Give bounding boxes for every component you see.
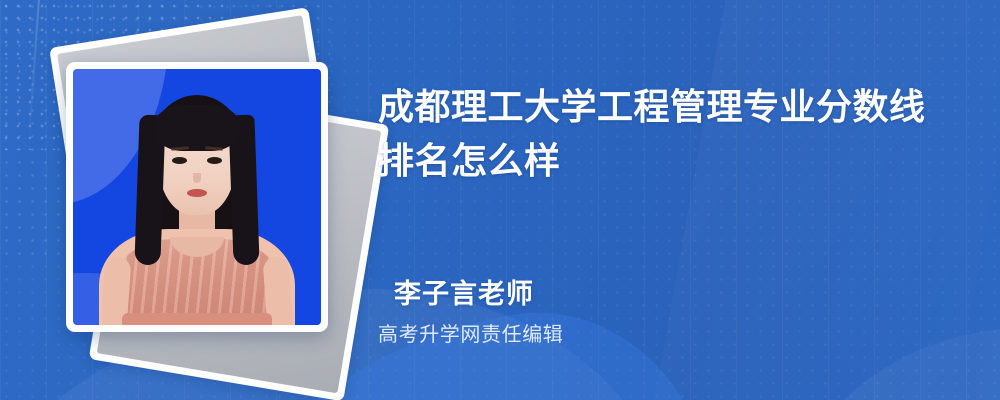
photo-card-stack [48,30,368,370]
portrait-eye-right [207,157,222,164]
portrait-mouth [187,189,207,197]
portrait-waistband [122,313,272,325]
portrait-fringe [153,105,241,151]
author-role: 高考升学网责任编辑 [378,318,563,347]
portrait-nose [193,173,201,183]
portrait-figure [92,89,302,325]
page-title-line-2: 排名怎么样 [378,140,561,181]
author-photo-card [66,62,328,332]
article-header-banner: 成都理工大学工程管理专业分数线排名怎么样 李子言老师 高考升学网责任编辑 [0,0,1000,400]
author-name: 李子言老师 [394,272,534,311]
author-photo [73,69,321,325]
banner-text-column: 成都理工大学工程管理专业分数线排名怎么样 李子言老师 高考升学网责任编辑 [378,0,978,400]
portrait-eye-left [172,157,187,164]
page-title-line-1: 成都理工大学工程管理专业分数线 [378,86,926,127]
page-title: 成都理工大学工程管理专业分数线排名怎么样 [378,80,953,188]
